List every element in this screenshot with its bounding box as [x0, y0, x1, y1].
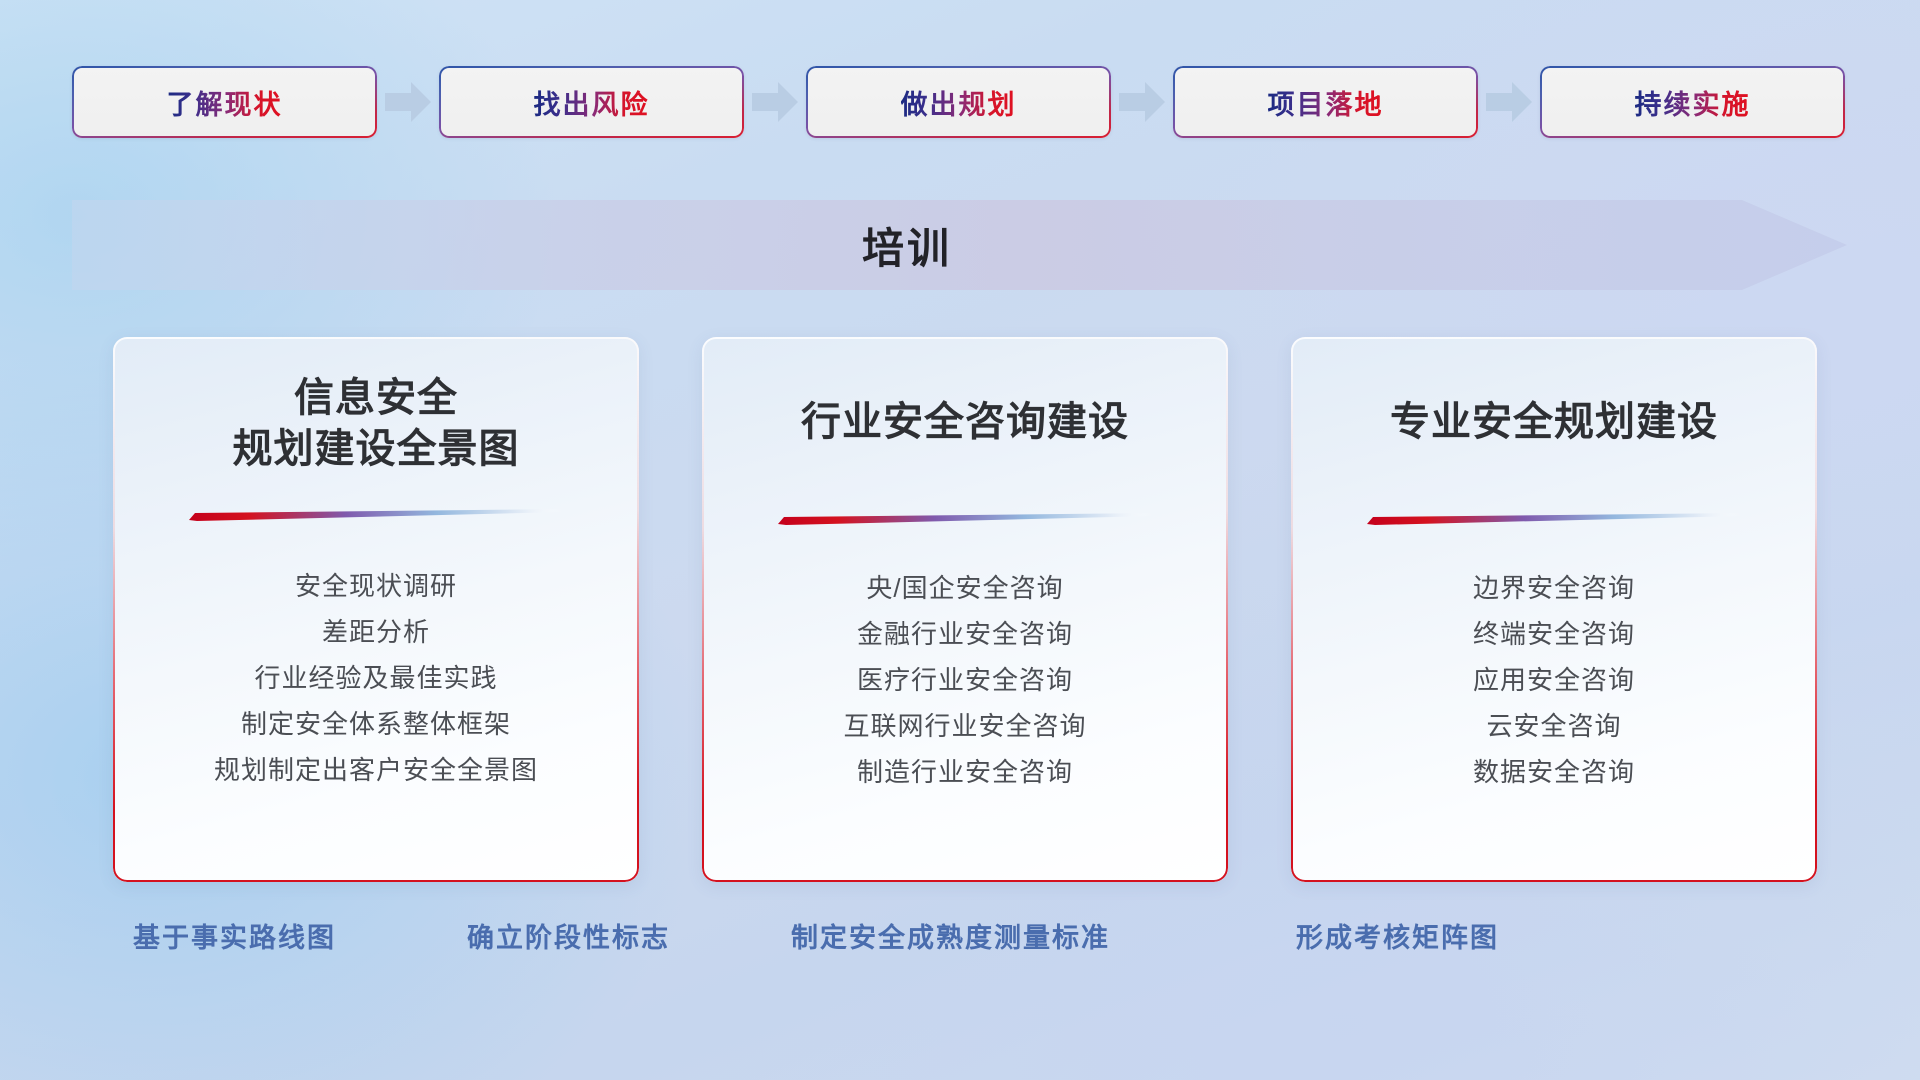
card-2-title: 行业安全咨询建设 — [801, 337, 1129, 448]
card-3-title: 专业安全规划建设 — [1390, 337, 1718, 448]
arrow-right-icon — [377, 66, 439, 138]
list-item: 安全现状调研 — [123, 563, 629, 609]
card-3-divider — [1367, 513, 1741, 525]
card-1-divider — [189, 509, 563, 521]
card-1-title-line-1: 信息安全 — [233, 373, 520, 424]
list-item: 金融行业安全咨询 — [712, 611, 1218, 657]
arrow-right-icon — [1478, 66, 1540, 138]
process-step-1[interactable]: 了解现状 — [72, 66, 377, 138]
card-2-list: 央/国企安全咨询 金融行业安全咨询 医疗行业安全咨询 互联网行业安全咨询 制造行… — [702, 565, 1228, 795]
list-item: 制定安全体系整体框架 — [123, 701, 629, 747]
arrow-right-icon — [1111, 66, 1173, 138]
card-2-divider — [778, 513, 1152, 525]
process-step-2-label: 找出风险 — [534, 83, 650, 122]
card-professional-security-planning[interactable]: 专业安全规划建设 边界安全咨询 — [1291, 337, 1817, 882]
list-item: 央/国企安全咨询 — [712, 565, 1218, 611]
card-3-title-line-1: 专业安全规划建设 — [1390, 397, 1718, 448]
card-1-title: 信息安全 规划建设全景图 — [233, 337, 520, 475]
card-2-title-line-1: 行业安全咨询建设 — [801, 397, 1129, 448]
process-step-1-label: 了解现状 — [167, 83, 283, 122]
list-item: 云安全咨询 — [1301, 703, 1807, 749]
training-banner: 培训 — [72, 200, 1847, 290]
banner-title: 培训 — [72, 200, 1742, 290]
list-item: 应用安全咨询 — [1301, 657, 1807, 703]
card-1-list: 安全现状调研 差距分析 行业经验及最佳实践 制定安全体系整体框架 规划制定出客户… — [113, 563, 639, 793]
card-row: 信息安全 规划建设全景图 — [0, 337, 1920, 882]
footer-label-row: 基于事实路线图 确立阶段性标志 制定安全成熟度测量标准 形成考核矩阵图 — [0, 905, 1920, 965]
card-info-security-blueprint[interactable]: 信息安全 规划建设全景图 — [113, 337, 639, 882]
process-step-3[interactable]: 做出规划 — [806, 66, 1111, 138]
list-item: 数据安全咨询 — [1301, 749, 1807, 795]
list-item: 规划制定出客户安全全景图 — [123, 747, 629, 793]
process-step-5[interactable]: 持续实施 — [1540, 66, 1845, 138]
list-item: 差距分析 — [123, 609, 629, 655]
list-item: 边界安全咨询 — [1301, 565, 1807, 611]
process-step-5-label: 持续实施 — [1635, 83, 1751, 122]
list-item: 行业经验及最佳实践 — [123, 655, 629, 701]
footer-label-4: 形成考核矩阵图 — [1296, 905, 1499, 965]
list-item: 制造行业安全咨询 — [712, 749, 1218, 795]
card-3-list: 边界安全咨询 终端安全咨询 应用安全咨询 云安全咨询 数据安全咨询 — [1291, 565, 1817, 795]
process-step-3-label: 做出规划 — [901, 83, 1017, 122]
footer-label-3: 制定安全成熟度测量标准 — [791, 905, 1110, 965]
footer-label-2: 确立阶段性标志 — [467, 905, 670, 965]
card-1-title-line-2: 规划建设全景图 — [233, 424, 520, 475]
process-step-4-label: 项目落地 — [1268, 83, 1384, 122]
process-step-4[interactable]: 项目落地 — [1173, 66, 1478, 138]
process-step-strip: 了解现状 找出风险 做出规划 项目落地 持续实施 — [0, 66, 1920, 138]
list-item: 终端安全咨询 — [1301, 611, 1807, 657]
footer-label-1: 基于事实路线图 — [133, 905, 336, 965]
card-industry-security-consulting[interactable]: 行业安全咨询建设 央/国企安全咨询 — [702, 337, 1228, 882]
arrow-right-icon — [744, 66, 806, 138]
list-item: 互联网行业安全咨询 — [712, 703, 1218, 749]
process-step-2[interactable]: 找出风险 — [439, 66, 744, 138]
list-item: 医疗行业安全咨询 — [712, 657, 1218, 703]
